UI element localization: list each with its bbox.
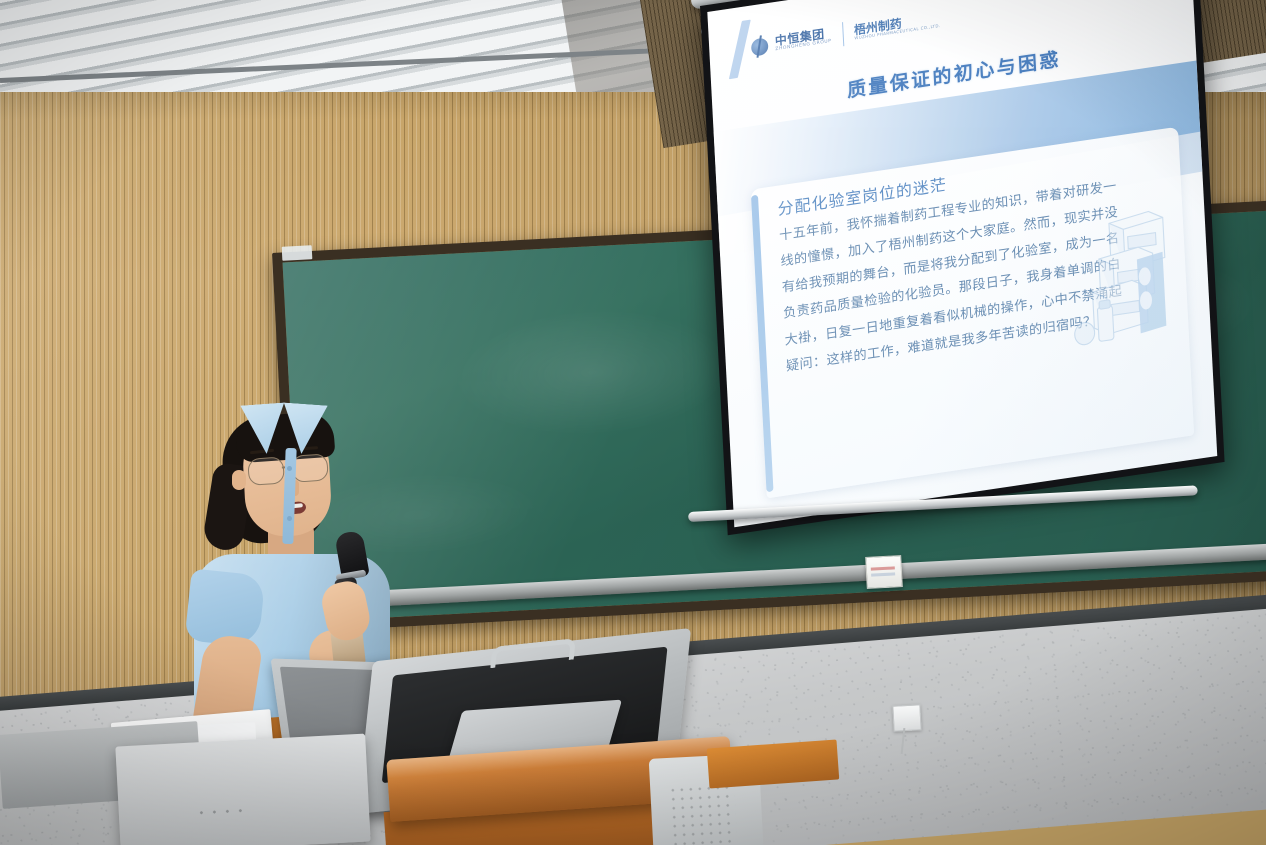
wall-outlet[interactable]: [892, 704, 921, 731]
amplifier-vents-icon: [195, 806, 249, 817]
slide-content-card: 分配化验室岗位的迷茫 十五年前，我怀揣着制药工程专业的知识，带着对研发一线的憧憬…: [751, 127, 1194, 499]
screen-frame: 中恒集团 ZHONGHENG GROUP 梧州制药 WUZHOU PHARMAC…: [700, 0, 1225, 535]
board-tape: [282, 245, 313, 261]
speaker-grille-icon: [668, 783, 738, 845]
presentation-slide: 中恒集团 ZHONGHENG GROUP 梧州制药 WUZHOU PHARMAC…: [707, 0, 1217, 527]
logo-slash-icon: [729, 20, 751, 80]
projection-screen: 中恒集团 ZHONGHENG GROUP 梧州制药 WUZHOU PHARMAC…: [700, 0, 1225, 535]
glasses-lens-left: [247, 456, 285, 485]
card-accent-bar: [751, 195, 773, 493]
ear: [232, 470, 246, 490]
chalk-box: [865, 555, 903, 589]
amplifier-unit: [115, 734, 370, 845]
logo-divider: [842, 22, 844, 46]
shirt-button-bottom: [287, 516, 292, 521]
podium: [96, 628, 736, 845]
glasses-lens-right: [291, 453, 329, 482]
lecture-hall-scene: 中恒集团 ZHONGHENG GROUP 梧州制药 WUZHOU PHARMAC…: [0, 0, 1266, 845]
product-boxes-image: [1062, 199, 1185, 358]
shirt-button-top: [287, 466, 292, 471]
zhongheng-logo-mark-icon: [751, 37, 769, 56]
